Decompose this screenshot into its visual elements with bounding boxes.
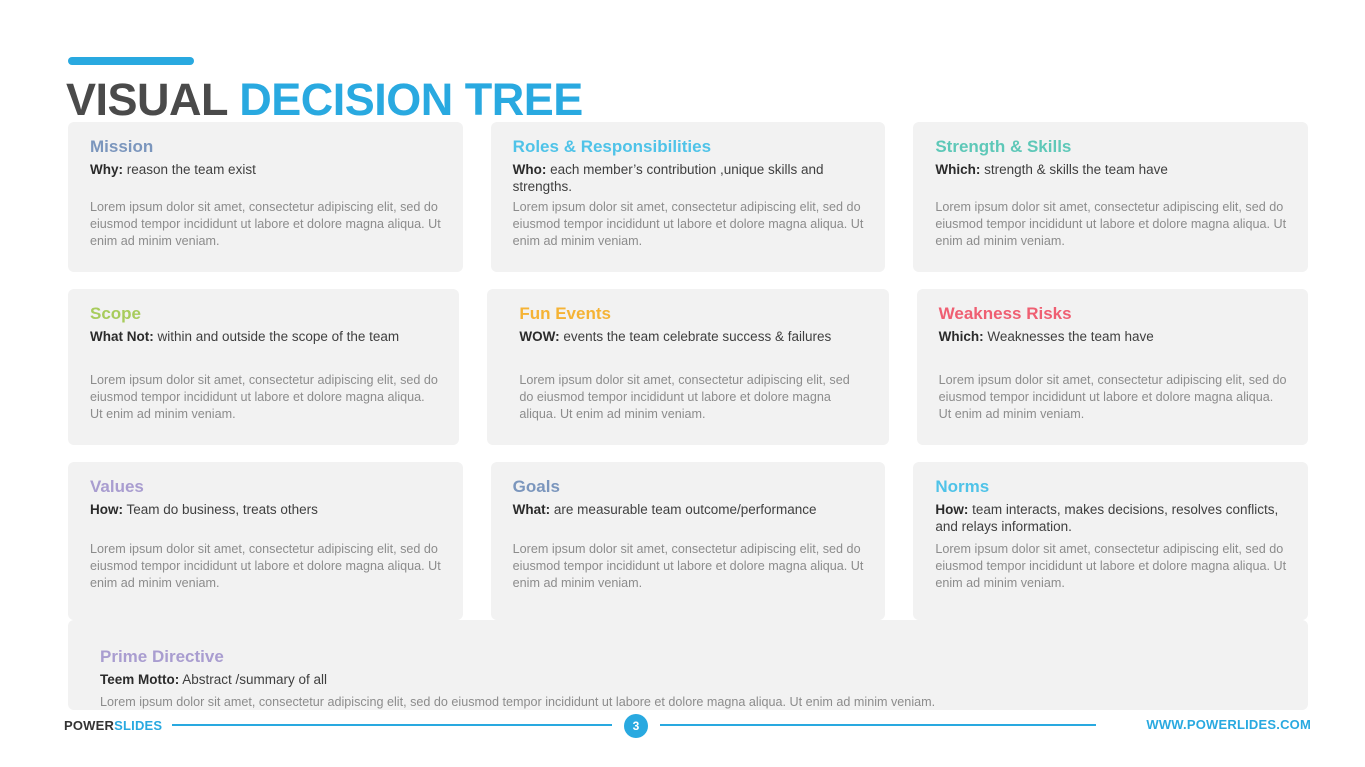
card-lead-text: team interacts, makes decisions, resolve… [935,502,1278,534]
card-title: Strength & Skills [935,136,1286,158]
card-lead-key: Which: [935,162,980,177]
card-title: Weakness Risks [939,303,1286,325]
page-title: VISUAL DECISION TREE [66,72,583,128]
card-lead-text: strength & skills the team have [980,162,1168,177]
prime-directive-body: Lorem ipsum dolor sit amet, consectetur … [100,693,1278,711]
card-norms[interactable]: Norms How: team interacts, makes decisio… [913,462,1308,620]
card-grid: Mission Why: reason the team exist Lorem… [68,122,1308,637]
card-mission[interactable]: Mission Why: reason the team exist Lorem… [68,122,463,272]
page-title-accent: DECISION TREE [239,74,583,125]
card-row-1: Mission Why: reason the team exist Lorem… [68,122,1308,272]
slide-canvas: VISUAL DECISION TREE Mission Why: reason… [0,0,1365,767]
card-lead-text: events the team celebrate success & fail… [560,329,832,344]
card-lead-text: within and outside the scope of the team [154,329,399,344]
card-body: Lorem ipsum dolor sit amet, consectetur … [519,372,862,423]
title-accent-bar [68,57,194,65]
card-lead: What: are measurable team outcome/perfor… [513,501,860,518]
prime-directive-lead: Teem Motto: Abstract /summary of all [100,671,1278,689]
card-title: Scope [90,303,437,325]
card-title: Values [90,476,441,498]
card-lead-text: reason the team exist [123,162,256,177]
card-body: Lorem ipsum dolor sit amet, consectetur … [90,541,443,592]
card-lead: Who: each member’s contribution ,unique … [513,161,860,195]
card-lead: How: team interacts, makes decisions, re… [935,501,1282,535]
card-prime-directive[interactable]: Prime Directive Teem Motto: Abstract /su… [68,620,1308,710]
card-title: Goals [513,476,864,498]
card-strength-skills[interactable]: Strength & Skills Which: strength & skil… [913,122,1308,272]
footer-website-url[interactable]: WWW.POWERLIDES.COM [1146,717,1311,732]
card-fun-events[interactable]: Fun Events WOW: events the team celebrat… [487,289,888,445]
card-lead-key: Who: [513,162,547,177]
card-roles-responsibilities[interactable]: Roles & Responsibilities Who: each membe… [491,122,886,272]
card-lead: Which: strength & skills the team have [935,161,1282,178]
page-title-primary: VISUAL [66,74,227,125]
card-body: Lorem ipsum dolor sit amet, consectetur … [90,372,439,423]
card-body: Lorem ipsum dolor sit amet, consectetur … [90,199,443,250]
card-body: Lorem ipsum dolor sit amet, consectetur … [935,541,1288,592]
card-goals[interactable]: Goals What: are measurable team outcome/… [491,462,886,620]
card-lead-key: What: [513,502,551,517]
card-title: Mission [90,136,441,158]
card-lead-key: What Not: [90,329,154,344]
card-scope[interactable]: Scope What Not: within and outside the s… [68,289,459,445]
card-lead-text: are measurable team outcome/performance [550,502,816,517]
card-title: Norms [935,476,1286,498]
footer-divider-left [172,724,612,726]
card-lead: WOW: events the team celebrate success &… [519,328,863,345]
card-lead-key: How: [90,502,123,517]
card-values[interactable]: Values How: Team do business, treats oth… [68,462,463,620]
prime-directive-title: Prime Directive [100,646,1278,668]
card-body: Lorem ipsum dolor sit amet, consectetur … [935,199,1288,250]
brand-logo-accent: SLIDES [114,718,162,733]
card-title: Fun Events [519,303,866,325]
card-lead-text: Team do business, treats others [123,502,318,517]
card-lead: Why: reason the team exist [90,161,437,178]
card-lead-key: Why: [90,162,123,177]
card-title: Roles & Responsibilities [513,136,864,158]
card-lead: Which: Weaknesses the team have [939,328,1283,345]
prime-directive-lead-text: Abstract /summary of all [179,672,327,687]
card-body: Lorem ipsum dolor sit amet, consectetur … [513,199,866,250]
slide-footer: POWERSLIDES WWW.POWERLIDES.COM [0,712,1365,750]
card-row-2: Scope What Not: within and outside the s… [68,289,1308,445]
prime-directive-lead-key: Teem Motto: [100,672,179,687]
card-body: Lorem ipsum dolor sit amet, consectetur … [513,541,866,592]
card-body: Lorem ipsum dolor sit amet, consectetur … [939,372,1288,423]
card-lead-key: How: [935,502,968,517]
card-lead: How: Team do business, treats others [90,501,437,518]
card-row-3: Values How: Team do business, treats oth… [68,462,1308,620]
page-number-badge: 3 [624,714,648,738]
brand-logo-primary: POWER [64,718,114,733]
card-lead-text: each member’s contribution ,unique skill… [513,162,824,194]
card-lead-text: Weaknesses the team have [984,329,1154,344]
brand-logo[interactable]: POWERSLIDES [64,718,162,733]
footer-divider-right [660,724,1096,726]
card-weakness-risks[interactable]: Weakness Risks Which: Weaknesses the tea… [917,289,1308,445]
card-lead-key: WOW: [519,329,559,344]
card-lead: What Not: within and outside the scope o… [90,328,434,345]
card-lead-key: Which: [939,329,984,344]
